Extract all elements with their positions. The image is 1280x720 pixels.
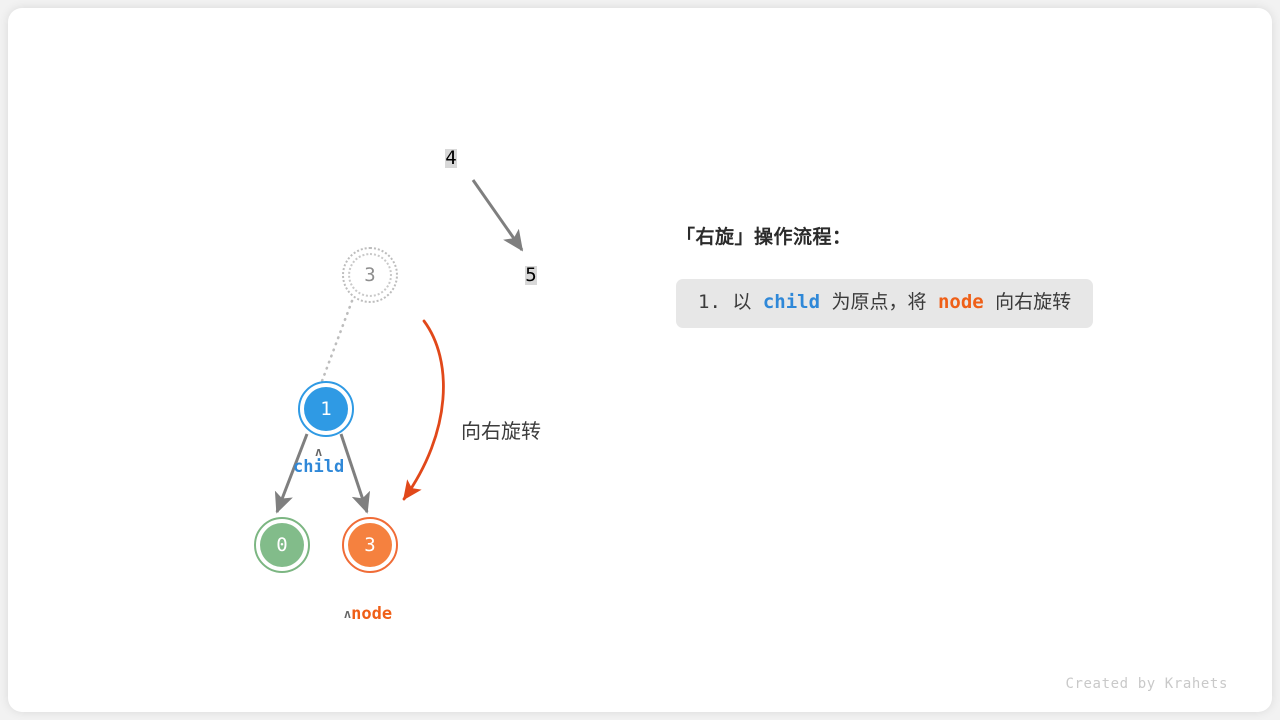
tree-node-1-label: 1 [304,387,348,431]
panel-title: 「右旋」操作流程： [676,222,1216,249]
steps-panel: 「右旋」操作流程： 1. 以 child 为原点，将 node 向右旋转 [676,222,1216,328]
step-1-index: 1. [698,291,721,313]
tree-node-0[interactable]: 0 [254,517,310,573]
diagram-page: 4 5 3 1 0 3 ʌ child ʌ node 向右旋转 「右旋」操作流程… [0,0,1280,720]
tree-node-3-label: 3 [348,523,392,567]
step-1-keyword-child: child [763,291,820,313]
tree-node-5-label: 5 [525,266,536,285]
tree-node-3[interactable]: 3 [342,517,398,573]
edge-4-to-5 [473,180,522,250]
step-1-keyword-node: node [938,291,984,313]
pointer-text-child: child [293,457,344,477]
edge-ghost3-to-1 [322,301,352,381]
rotate-annotation-label: 向右旋转 [461,415,541,444]
tree-node-ghost-3[interactable]: 3 [342,247,398,303]
watermark-credit: Created by Krahets [1065,676,1228,692]
step-item-1: 1. 以 child 为原点，将 node 向右旋转 [676,279,1093,328]
pointer-caret-child: ʌ [293,448,344,456]
tree-node-4[interactable]: 4 [423,130,479,186]
step-1-part2: 为原点，将 [831,291,926,313]
step-1-part1: 以 [732,291,751,313]
edge-1-to-3 [341,434,367,512]
tree-node-4-label: 4 [445,149,456,168]
rotate-arrow [404,321,443,499]
step-1-part3: 向右旋转 [995,291,1071,313]
tree-node-ghost-3-label: 3 [348,253,392,297]
tree-node-0-label: 0 [260,523,304,567]
pointer-text-node: node [351,606,392,623]
pointer-label-child: ʌ child [293,448,344,477]
pointer-label-node: ʌ node [340,586,396,642]
edge-layer [0,0,1280,720]
tree-node-1[interactable]: 1 [298,381,354,437]
tree-node-5[interactable]: 5 [503,247,559,303]
pointer-caret-node: ʌ [344,610,351,618]
